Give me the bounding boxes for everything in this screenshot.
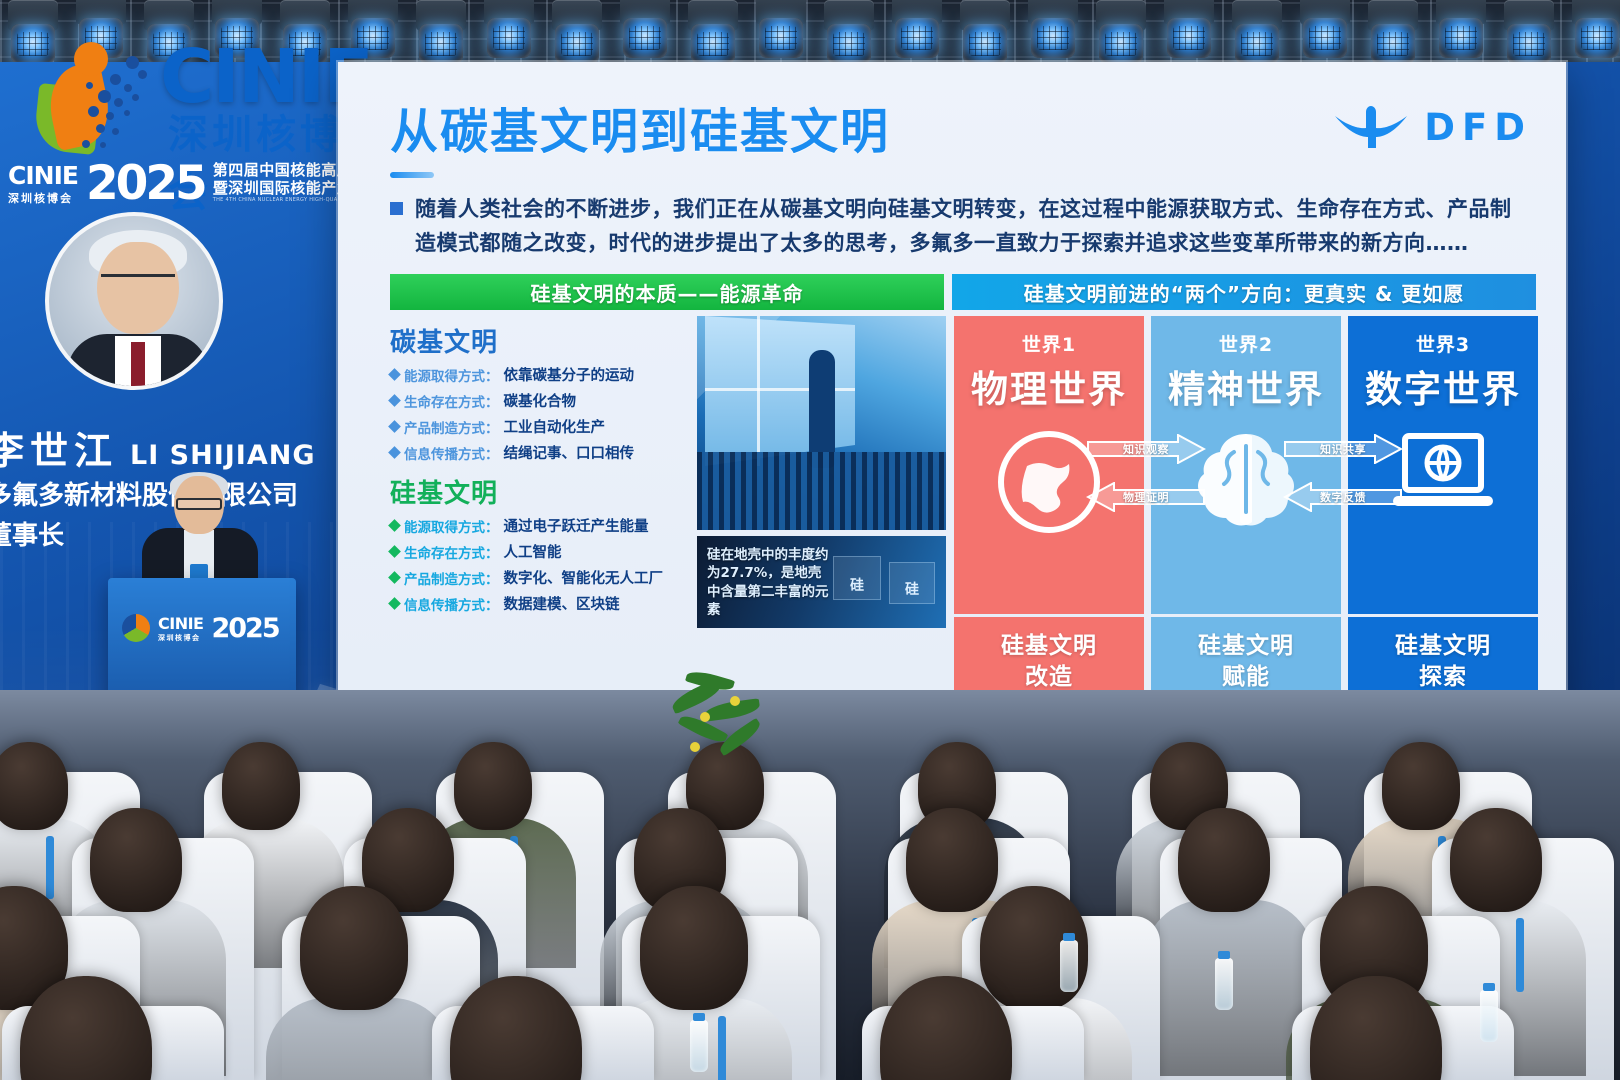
dancer-photo (697, 316, 946, 530)
stage-light (1430, 0, 1492, 64)
silicon-list-item: 信息传播方式：数据建模、区块链 (390, 593, 690, 614)
audience-person-head (1178, 808, 1270, 912)
stage-light (886, 0, 948, 64)
water-bottle (690, 1020, 708, 1072)
photo-scene: 核能 CINIE 深圳核博会 CINIE 深圳核博会 2025 第四届中国核能高… (0, 0, 1620, 1080)
carbon-list: 能源取得方式：依靠碳基分子的运动生命存在方式：碳基化合物产品制造方式：工业自动化… (390, 364, 690, 463)
audience-person-head (454, 742, 532, 830)
strip-brand: CINIE 深圳核博会 (8, 161, 78, 206)
arrow-pair-1: 知识观察 物理证明 (1086, 434, 1206, 512)
section-bands: 硅基文明的本质——能源革命 硅基文明前进的“两个”方向：更真实 & 更如愿 (390, 274, 1536, 310)
speaker-name-en: LI SHIJIANG (130, 440, 316, 471)
speaker-job-title: 董事长 (0, 515, 64, 552)
audience-person-body (266, 998, 452, 1080)
diamond-bullet-icon (388, 545, 401, 558)
diamond-bullet-icon (388, 420, 401, 433)
carbon-list-item: 能源取得方式：依靠碳基分子的运动 (390, 364, 690, 385)
presentation-screen: 从碳基文明到硅基文明 DFD 随着人类社会的不断进步，我们正在从碳基文明向硅基文… (338, 62, 1566, 762)
speaker-name-cn: 李世江 (0, 429, 118, 473)
stage-light (478, 0, 540, 64)
event-logo-block: CINIE 深圳核博会 CINIE 深圳核博会 2025 第四届中国核能高质量发… (0, 24, 372, 194)
list-item-key: 能源取得方式： (404, 516, 499, 536)
audience-lanyard (1516, 918, 1524, 992)
dfd-logo: DFD (1332, 104, 1532, 150)
diamond-bullet-icon (388, 394, 401, 407)
list-item-value: 依靠碳基分子的运动 (504, 364, 635, 385)
stage-light (1566, 0, 1620, 64)
audience-person-head (640, 886, 748, 1010)
diamond-bullet-icon (388, 571, 401, 584)
silicon-abundance-box: 硅 硅 硅在地壳中的丰度约为27.7%，是地壳中含量第二丰富的元素 (697, 536, 946, 628)
slide-lead-paragraph: 随着人类社会的不断进步，我们正在从碳基文明向硅基文明转变，在这过程中能源获取方式… (390, 192, 1530, 260)
podium-logo: CINIE 深圳核博会 2025 (122, 608, 282, 648)
arrow-forward-1: 知识观察 (1086, 434, 1206, 464)
diamond-bullet-icon (388, 446, 401, 459)
world-1-label: 世界1 (954, 330, 1144, 357)
list-item-value: 数字化、智能化无人工厂 (504, 567, 664, 588)
diamond-bullet-icon (388, 597, 401, 610)
silicon-list-item: 能源取得方式：通过电子跃迁产生能量 (390, 515, 690, 536)
world-3-label: 世界3 (1348, 330, 1538, 357)
world-3-name: 数字世界 (1348, 359, 1538, 413)
audience-person-head (0, 742, 68, 830)
stage-light (614, 0, 676, 64)
list-item-key: 产品制造方式： (404, 568, 499, 588)
stage-light (1090, 0, 1152, 70)
stage-light (410, 0, 472, 70)
water-bottle (1215, 958, 1233, 1010)
list-item-key: 信息传播方式： (404, 443, 499, 463)
audience-person-head (1382, 742, 1460, 830)
audience-person-head (906, 808, 998, 912)
audience-lanyard (46, 836, 54, 899)
cube-label-2: 硅 (890, 579, 934, 599)
stage-light (1158, 0, 1220, 64)
audience-person-head (90, 808, 182, 912)
silicon-heading: 硅基文明 (390, 473, 690, 510)
title-underline (390, 172, 434, 178)
speaker-name: 李世江LI SHIJIANG (0, 420, 246, 475)
list-item-value: 结绳记事、口口相传 (504, 442, 635, 463)
stage-light (1362, 0, 1424, 70)
strip-year: 2025 (86, 156, 205, 211)
band-left: 硅基文明的本质——能源革命 (390, 274, 944, 310)
audience-person-head (300, 886, 408, 1010)
silicon-abundance-text: 硅在地壳中的丰度约为27.7%，是地壳中含量第二丰富的元素 (707, 546, 833, 619)
list-item-key: 生命存在方式： (404, 542, 499, 562)
stage-light (954, 0, 1016, 70)
arrow-backward-1: 物理证明 (1086, 482, 1206, 512)
audience-person-head (222, 742, 300, 830)
world-2-name: 精神世界 (1151, 359, 1341, 413)
audience-lanyard (718, 1016, 726, 1080)
audience-foreground (0, 690, 1620, 1080)
arrow-forward-2: 知识共享 (1283, 434, 1403, 464)
list-item-key: 能源取得方式： (404, 365, 499, 385)
list-item-value: 通过电子跃迁产生能量 (504, 515, 649, 536)
world-2-label: 世界2 (1151, 330, 1341, 357)
list-item-key: 产品制造方式： (404, 417, 499, 437)
stage-light (750, 0, 812, 64)
speaker-avatar (45, 212, 223, 390)
list-item-value: 数据建模、区块链 (504, 593, 620, 614)
cinie-emblem-icon (34, 40, 152, 158)
square-bullet-icon (390, 202, 403, 215)
stage-light (1022, 0, 1084, 64)
stage-plant (660, 668, 790, 778)
diamond-bullet-icon (388, 519, 401, 532)
list-item-value: 碳基化合物 (504, 390, 577, 411)
list-item-key: 生命存在方式： (404, 391, 499, 411)
list-item-value: 人工智能 (504, 541, 562, 562)
dfd-wordmark: DFD (1424, 106, 1532, 149)
silicon-list-item: 生命存在方式：人工智能 (390, 541, 690, 562)
event-title-strip: CINIE 深圳核博会 2025 第四届中国核能高质量发展大会 暨深圳国际核能产… (8, 152, 324, 214)
audience-person-head (1450, 808, 1542, 912)
diamond-bullet-icon (388, 368, 401, 381)
water-bottle (1060, 940, 1078, 992)
carbon-list-item: 产品制造方式：工业自动化生产 (390, 416, 690, 437)
stage-light (1226, 0, 1288, 70)
silicon-list-item: 产品制造方式：数字化、智能化无人工厂 (390, 567, 690, 588)
stage-light (682, 0, 744, 70)
podium-emblem-icon (122, 614, 150, 642)
stage-light (1498, 0, 1560, 70)
stage-light (818, 0, 880, 70)
cube-label-1: 硅 (834, 575, 880, 595)
silicon-list: 能源取得方式：通过电子跃迁产生能量生命存在方式：人工智能产品制造方式：数字化、智… (390, 515, 690, 614)
carbon-list-item: 生命存在方式：碳基化合物 (390, 390, 690, 411)
arrow-pair-2: 知识共享 数字反馈 (1283, 434, 1403, 512)
stage-light (546, 0, 608, 70)
carbon-list-item: 信息传播方式：结绳记事、口口相传 (390, 442, 690, 463)
bird-icon (1332, 104, 1410, 150)
arrow-backward-2: 数字反馈 (1283, 482, 1403, 512)
water-bottle (1480, 990, 1498, 1042)
stage-light (1294, 0, 1356, 64)
list-item-key: 信息传播方式： (404, 594, 499, 614)
list-item-value: 工业自动化生产 (504, 416, 606, 437)
world-1-name: 物理世界 (954, 359, 1144, 413)
carbon-heading: 碳基文明 (390, 322, 690, 359)
band-right: 硅基文明前进的“两个”方向：更真实 & 更如愿 (952, 274, 1536, 310)
